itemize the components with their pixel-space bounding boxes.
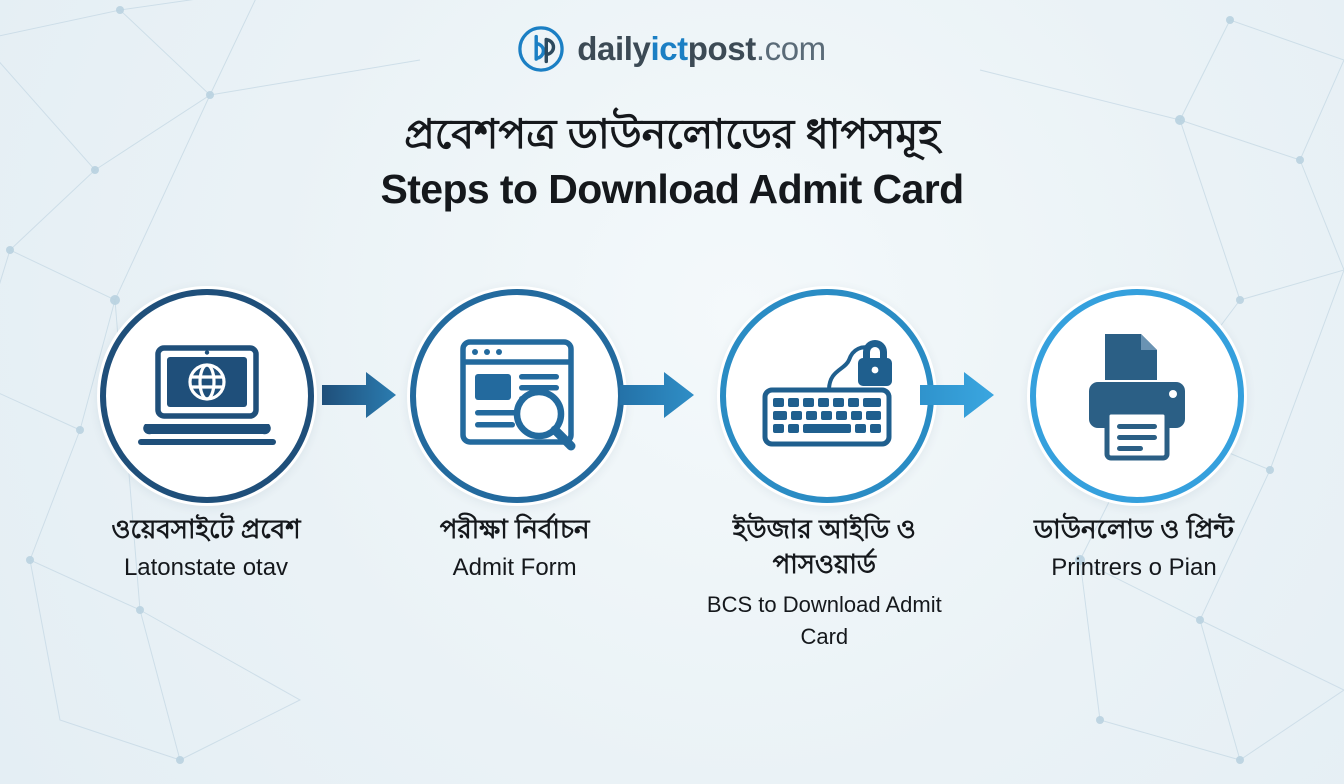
brand-name-part1: daily xyxy=(577,30,650,67)
infographic-canvas: dailyictpost.com প্রবেশপত্র ডাউনলোডের ধা… xyxy=(0,0,1344,784)
step-1-caption: ওয়েবসাইটে প্রবেশ Latonstate otav xyxy=(78,512,334,653)
keyboard-lock-icon xyxy=(717,286,937,506)
headings-block: প্রবেশপত্র ডাউনলোডের ধাপসমূহ Steps to Do… xyxy=(0,108,1344,213)
browser-search-icon xyxy=(407,286,627,506)
step-3-caption: ইউজার আইডি ও পাসওয়ার্ড BCS to Download … xyxy=(701,512,947,653)
step-3-caption-english: BCS to Download Admit Card xyxy=(701,589,947,653)
step-2-caption: পরীক্ষা নির্বাচন Admit Form xyxy=(387,512,643,653)
printer-document-icon xyxy=(1027,286,1247,506)
step-1-caption-english: Latonstate otav xyxy=(78,551,334,584)
step-1-circle xyxy=(97,286,317,506)
step-1 xyxy=(96,286,318,506)
site-brand: dailyictpost.com xyxy=(0,26,1344,72)
step-3 xyxy=(716,286,938,506)
step-2-caption-bengali: পরীক্ষা নির্বাচন xyxy=(387,512,643,547)
step-4-caption-bengali: ডাউনলোড ও প্রিন্ট xyxy=(1006,512,1262,547)
captions-row: ওয়েবসাইটে প্রবেশ Latonstate otav পরীক্ষ… xyxy=(96,512,1248,653)
arrow-3 xyxy=(920,372,994,418)
step-2 xyxy=(406,286,628,506)
step-3-circle xyxy=(717,286,937,506)
step-4 xyxy=(1026,286,1248,506)
step-4-circle xyxy=(1027,286,1247,506)
brand-name-tld: .com xyxy=(756,30,826,67)
step-4-caption-english: Printrers o Pian xyxy=(1006,551,1262,584)
step-4-caption: ডাউনলোড ও প্রিন্ট Printrers o Pian xyxy=(1006,512,1262,653)
step-2-circle xyxy=(407,286,627,506)
page-title-english: Steps to Download Admit Card xyxy=(0,166,1344,213)
step-3-caption-bengali: ইউজার আইডি ও পাসওয়ার্ড xyxy=(701,512,947,582)
arrow-1 xyxy=(322,372,396,418)
brand-wordmark: dailyictpost.com xyxy=(577,30,826,68)
page-title-bengali: প্রবেশপত্র ডাউনলোডের ধাপসমূহ xyxy=(0,108,1344,160)
brand-name-part3: post xyxy=(688,30,756,67)
brand-name-part2: ict xyxy=(650,30,687,67)
dp-monogram-icon xyxy=(518,26,564,72)
laptop-globe-icon xyxy=(97,286,317,506)
arrow-2 xyxy=(620,372,694,418)
step-2-caption-english: Admit Form xyxy=(387,551,643,584)
step-1-caption-bengali: ওয়েবসাইটে প্রবেশ xyxy=(78,512,334,547)
